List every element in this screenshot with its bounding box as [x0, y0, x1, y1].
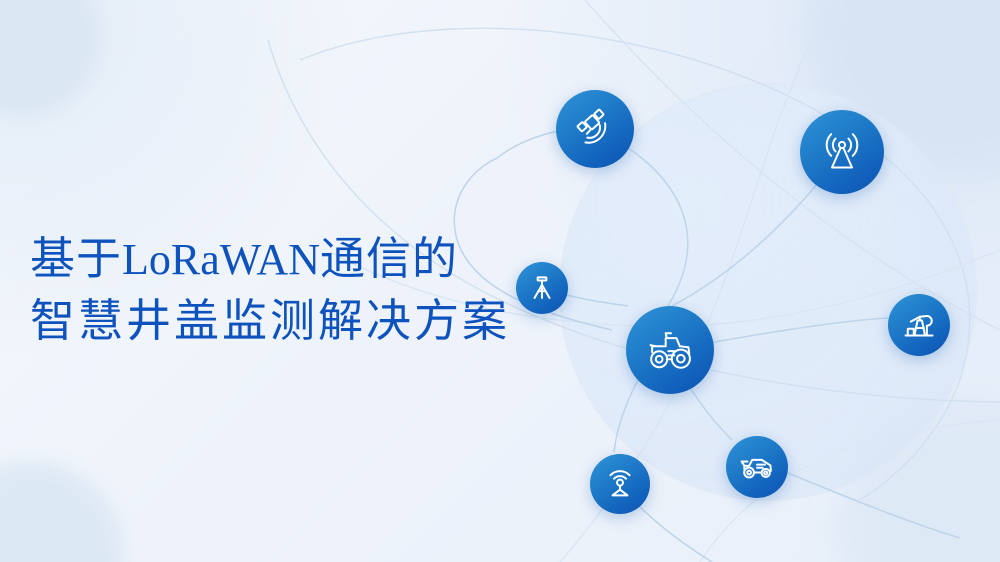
- title-line-2: 智慧井盖监测解决方案: [30, 290, 510, 351]
- slide-title: 基于LoRaWAN通信的 智慧井盖监测解决方案: [30, 228, 510, 351]
- node-survey-tripod[interactable]: [516, 262, 568, 314]
- harvester-icon: [738, 448, 776, 486]
- satellite-icon: [572, 106, 618, 152]
- node-oil-pumpjack[interactable]: [888, 294, 950, 356]
- wireless-sensor-icon: [603, 467, 637, 501]
- title-line2-text: 智慧井盖监测解决方案: [30, 295, 510, 346]
- presentation-slide: 基于LoRaWAN通信的 智慧井盖监测解决方案: [0, 0, 1000, 562]
- node-wireless-sensor[interactable]: [590, 454, 650, 514]
- title-line1-en: LoRaWAN: [122, 235, 320, 284]
- tractor-icon: [644, 324, 696, 376]
- node-tractor[interactable]: [626, 306, 714, 394]
- title-line1-cn-b: 通信的: [320, 233, 458, 284]
- node-radio-tower[interactable]: [800, 110, 884, 194]
- oil-pumpjack-icon: [901, 307, 937, 343]
- title-line-1: 基于LoRaWAN通信的: [30, 228, 510, 290]
- node-satellite[interactable]: [556, 90, 634, 168]
- node-harvester[interactable]: [726, 436, 788, 498]
- title-line1-cn-a: 基于: [30, 233, 122, 284]
- survey-tripod-icon: [527, 273, 557, 303]
- radio-tower-icon: [818, 128, 866, 176]
